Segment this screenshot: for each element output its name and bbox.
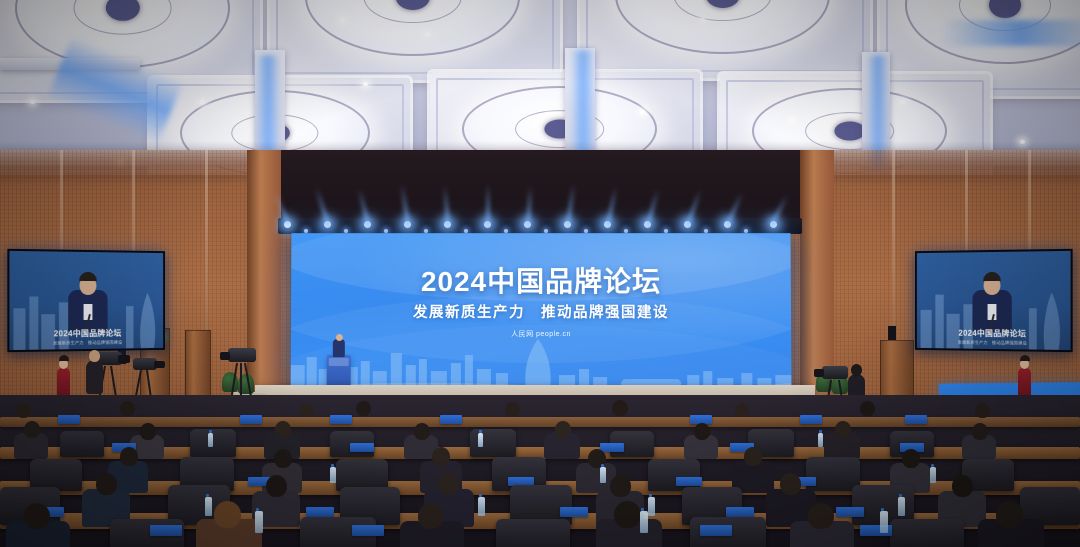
main-led-screen: 2024中国品牌论坛 发展新质生产力 推动品牌强国建设 人民网 people.c… [291, 233, 792, 393]
stage-podium-graphic [327, 355, 351, 389]
side-screen-right-lower-third: 2024中国品牌论坛 发展新质生产力 推动品牌强国建设 [917, 327, 1071, 347]
city-skyline-graphic [291, 331, 792, 393]
ceiling [0, 0, 1080, 175]
audience-area [0, 395, 1080, 547]
forum-subtitle: 发展新质生产力 推动品牌强国建设 [291, 301, 791, 322]
side-screen-left: 2024中国品牌论坛 发展新质生产力 推动品牌强国建设 [7, 249, 165, 352]
conference-hall-photo: 2024中国品牌论坛 发展新质生产力 推动品牌强国建设 人民网 people.c… [0, 0, 1080, 547]
stage-light-truss [278, 218, 802, 234]
side-screen-left-lower-third: 2024中国品牌论坛 发展新质生产力 推动品牌强国建设 [9, 327, 163, 347]
door-left-2[interactable] [185, 330, 211, 400]
speaker-figure [333, 339, 345, 357]
forum-title: 2024中国品牌论坛 [291, 260, 791, 300]
side-screen-right: 2024中国品牌论坛 发展新质生产力 推动品牌强国建设 [915, 249, 1073, 352]
stage-backdrop-dark [250, 150, 830, 220]
speaker-head [336, 334, 343, 341]
